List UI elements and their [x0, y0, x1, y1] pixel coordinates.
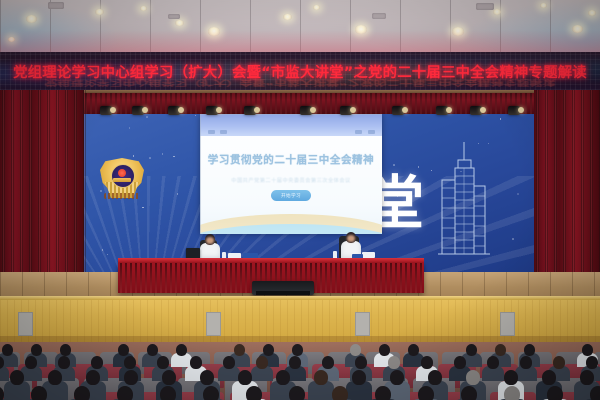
valance-pleat: [430, 90, 432, 114]
table-skirt-pleat: [230, 263, 232, 293]
ceiling-downlight: [493, 9, 501, 15]
audience-head: [176, 344, 187, 356]
valance-pleat: [335, 90, 337, 114]
table-skirt-pleat: [150, 263, 152, 293]
audience-head: [428, 370, 442, 385]
audience-head: [256, 356, 268, 369]
table-skirt-pleat: [120, 263, 122, 293]
stage-spotlight: [300, 106, 312, 115]
ceiling-downlight: [283, 14, 292, 20]
audience-head: [487, 356, 499, 369]
backdrop-star: [500, 118, 502, 120]
valance-pleat: [380, 90, 382, 114]
speaker-left-face: [206, 237, 214, 244]
audience-head: [289, 356, 301, 369]
valance-pleat: [95, 90, 97, 114]
valance-pleat: [195, 90, 197, 114]
table-skirt-pleat: [385, 263, 387, 293]
table-skirt-pleat: [410, 263, 412, 293]
ceiling-vent: [168, 14, 180, 19]
valance-pleat: [460, 90, 462, 114]
valance-pleat: [150, 90, 152, 114]
audience-head: [276, 370, 290, 385]
audience-head: [375, 386, 391, 400]
backdrop-star: [107, 254, 109, 256]
stage-spotlight: [470, 106, 482, 115]
ceiling-vent: [372, 13, 386, 19]
backdrop-star: [149, 157, 151, 159]
table-skirt-pleat: [190, 263, 192, 293]
audience-head: [388, 356, 400, 369]
ceiling: [0, 0, 600, 52]
table-skirt-pleat: [235, 263, 237, 293]
valance-pleat: [490, 90, 492, 114]
ceiling-downlight: [540, 3, 547, 8]
valance-pleat: [280, 90, 282, 114]
valance-pleat: [525, 90, 527, 114]
audience-head: [542, 370, 556, 385]
audience-head: [466, 370, 480, 385]
valance-lip: [0, 90, 600, 93]
table-skirt-pleat: [175, 263, 177, 293]
audience-head: [60, 344, 71, 356]
valance-pleat: [365, 90, 367, 114]
audience-head: [553, 356, 565, 369]
table-skirt-pleat: [215, 263, 217, 293]
table-skirt-pleat: [160, 263, 162, 293]
valance-pleat: [385, 90, 387, 114]
audience-head: [580, 370, 594, 385]
table-skirt-pleat: [145, 263, 147, 293]
table-skirt-pleat: [240, 263, 242, 293]
audience-head: [408, 344, 419, 356]
valance-pleat: [260, 90, 262, 114]
audience-head: [238, 370, 252, 385]
emblem-band: [113, 178, 131, 182]
ceiling-downlight: [26, 15, 37, 23]
table-skirt-pleat: [135, 263, 137, 293]
audience-head: [124, 356, 136, 369]
table-skirt-pleat: [380, 263, 382, 293]
valance-pleat: [465, 90, 467, 114]
valance-pleat: [360, 90, 362, 114]
table-skirt-pleat: [350, 263, 352, 293]
audience-head: [263, 344, 274, 356]
audience-head: [495, 344, 506, 356]
apron-vent-1: [18, 312, 33, 336]
backdrop-star: [162, 153, 164, 155]
emblem-text-band: [104, 193, 140, 199]
audience-head: [350, 344, 361, 356]
audience-head: [246, 386, 262, 400]
backdrop-star: [512, 238, 514, 240]
apron-top-edge: [0, 296, 600, 300]
table-skirt-pleat: [205, 263, 207, 293]
table-skirt-pleat: [375, 263, 377, 293]
stage-spotlight: [508, 106, 520, 115]
audience-head: [582, 344, 593, 356]
ceiling-downlight: [175, 20, 184, 26]
backdrop-star: [517, 193, 519, 195]
audience-head: [203, 386, 219, 400]
audience-head: [590, 386, 600, 400]
table-skirt-pleat: [165, 263, 167, 293]
table-skirt-pleat: [210, 263, 212, 293]
audience-head: [31, 386, 47, 400]
led-banner-text-reflection: 党组理论学习中心组学习（扩大）会暨“市监大讲堂”之党的二十届三中全会精神专题解读: [0, 81, 600, 89]
valance-pleat: [495, 90, 497, 114]
backdrop-star: [102, 249, 104, 251]
table-skirt-pleat: [195, 263, 197, 293]
audience-head: [547, 386, 563, 400]
backdrop-star: [146, 116, 148, 118]
valance-pleat: [425, 90, 427, 114]
valance-pleat: [160, 90, 162, 114]
valance-pleat: [500, 90, 502, 114]
stage-spotlight: [100, 106, 112, 115]
audience-head: [124, 370, 138, 385]
valance-pleat: [240, 90, 242, 114]
valance-pleat: [265, 90, 267, 114]
audience-head: [190, 356, 202, 369]
audience-head: [504, 386, 520, 400]
table-skirt-pleat: [335, 263, 337, 293]
table-skirt-pleat: [130, 263, 132, 293]
valance-pleat: [375, 90, 377, 114]
table-skirt-pleat: [400, 263, 402, 293]
stage-spotlight: [392, 106, 404, 115]
backdrop-star: [129, 127, 131, 129]
table-skirt-pleat: [155, 263, 157, 293]
apron-vent-3: [355, 312, 370, 336]
table-skirt-pleat: [355, 263, 357, 293]
valance-pleat: [155, 90, 157, 114]
ceiling-downlight: [140, 6, 147, 11]
table-skirt-pleat: [370, 263, 372, 293]
audience-head: [117, 386, 133, 400]
audience-head: [86, 370, 100, 385]
table-skirt-pleat: [395, 263, 397, 293]
apron-vent-2: [206, 312, 221, 336]
table-skirt-pleat: [200, 263, 202, 293]
table-skirt-pleat: [365, 263, 367, 293]
valance-pleat: [225, 90, 227, 114]
table-skirt-pleat: [345, 263, 347, 293]
valance-pleat: [125, 90, 127, 114]
table-skirt-pleat: [180, 263, 182, 293]
audience-head: [421, 356, 433, 369]
audience-head: [31, 344, 42, 356]
valance-pleat: [330, 90, 332, 114]
valance-pleat: [190, 90, 192, 114]
backdrop-star: [142, 207, 144, 209]
valance-pleat: [165, 90, 167, 114]
stage-spotlight: [132, 106, 144, 115]
table-skirt-pleat: [325, 263, 327, 293]
table-skirt-pleat: [330, 263, 332, 293]
audience-head: [74, 386, 90, 400]
valance-pleat: [200, 90, 202, 114]
stage-spotlight: [244, 106, 256, 115]
valance-pleat: [505, 90, 507, 114]
audience-head: [504, 370, 518, 385]
ceiling-downlight: [588, 10, 596, 16]
valance-pleat: [290, 90, 292, 114]
screen-border: [200, 114, 382, 234]
audience-head: [234, 344, 245, 356]
audience-head: [200, 370, 214, 385]
audience-head: [157, 356, 169, 369]
table-skirt-pleat: [140, 263, 142, 293]
table-skirt-pleat: [405, 263, 407, 293]
valance-pleat: [185, 90, 187, 114]
valance-pleat: [90, 90, 92, 114]
skyscraper-icon: [418, 140, 496, 258]
audience-head: [314, 370, 328, 385]
audience-head: [379, 344, 390, 356]
backdrop-star: [177, 193, 179, 195]
audience-head: [352, 370, 366, 385]
audience-head: [461, 386, 477, 400]
valance-pleat: [455, 90, 457, 114]
audience-head: [289, 386, 305, 400]
valance-pleat: [320, 90, 322, 114]
stage-spotlight: [168, 106, 180, 115]
audience-head: [520, 356, 532, 369]
audience-head: [332, 386, 348, 400]
ceiling-vent: [48, 2, 64, 9]
audience-head: [160, 386, 176, 400]
audience-head: [118, 344, 129, 356]
valance-pleat: [275, 90, 277, 114]
audience-head: [390, 370, 404, 385]
valance-pleat: [410, 90, 412, 114]
led-banner: 党组理论学习中心组学习（扩大）会暨“市监大讲堂”之党的二十届三中全会精神专题解读…: [0, 52, 600, 90]
table-skirt-pleat: [220, 263, 222, 293]
table-skirt-pleat: [420, 263, 422, 293]
apron-vent-4: [500, 312, 515, 336]
valance-pleat: [325, 90, 327, 114]
valance-pleat: [230, 90, 232, 114]
audience-head: [48, 370, 62, 385]
audience-head: [147, 344, 158, 356]
audience-head: [91, 356, 103, 369]
valance-pleat: [235, 90, 237, 114]
audience-head: [162, 370, 176, 385]
valance-pleat: [295, 90, 297, 114]
valance-pleat: [415, 90, 417, 114]
emblem-sun: [118, 169, 126, 177]
audience-head: [355, 356, 367, 369]
table-skirt-pleat: [245, 263, 247, 293]
audience-head: [223, 356, 235, 369]
auditorium-photo: 党组理论学习中心组学习（扩大）会暨“市监大讲堂”之党的二十届三中全会精神专题解读…: [0, 0, 600, 400]
table-skirt-pleat: [225, 263, 227, 293]
market-supervision-emblem-icon: [100, 158, 144, 204]
valance-pleat: [285, 90, 287, 114]
table-skirt-pleat: [390, 263, 392, 293]
ceiling-downlight: [313, 5, 320, 10]
projection-screen: 学习贯彻党的二十届三中全会精神 中国共产党第二十届中央委员会第三次全体会议 开始…: [200, 114, 382, 234]
table-skirt-pleat: [360, 263, 362, 293]
table-skirt-pleat: [315, 263, 317, 293]
valance-pleat: [270, 90, 272, 114]
audience-head: [466, 344, 477, 356]
backdrop-star: [195, 115, 197, 117]
valance-pleat: [530, 90, 532, 114]
audience-head: [454, 356, 466, 369]
stage-monitor-speaker: [252, 281, 314, 295]
table-skirt-pleat: [125, 263, 127, 293]
backdrop-star: [173, 156, 175, 158]
audience-head: [10, 370, 24, 385]
audience-head: [25, 356, 37, 369]
table-skirt-pleat: [340, 263, 342, 293]
table-skirt-pleat: [320, 263, 322, 293]
stage-spotlight: [206, 106, 218, 115]
backdrop-star: [133, 155, 135, 157]
ceiling-vent: [476, 3, 494, 10]
audience-head: [586, 356, 598, 369]
table-skirt-pleat: [170, 263, 172, 293]
audience-head: [322, 356, 334, 369]
table-skirt-pleat: [185, 263, 187, 293]
audience-head: [524, 344, 535, 356]
valance-pleat: [120, 90, 122, 114]
valance-pleat: [420, 90, 422, 114]
table-skirt-pleat: [415, 263, 417, 293]
audience-head: [58, 356, 70, 369]
valance-pleat: [370, 90, 372, 114]
audience-head: [418, 386, 434, 400]
audience-head: [292, 344, 303, 356]
stage-spotlight: [340, 106, 352, 115]
speaker-right-face: [347, 235, 355, 242]
audience-head: [2, 344, 13, 356]
stage-spotlight: [436, 106, 448, 115]
